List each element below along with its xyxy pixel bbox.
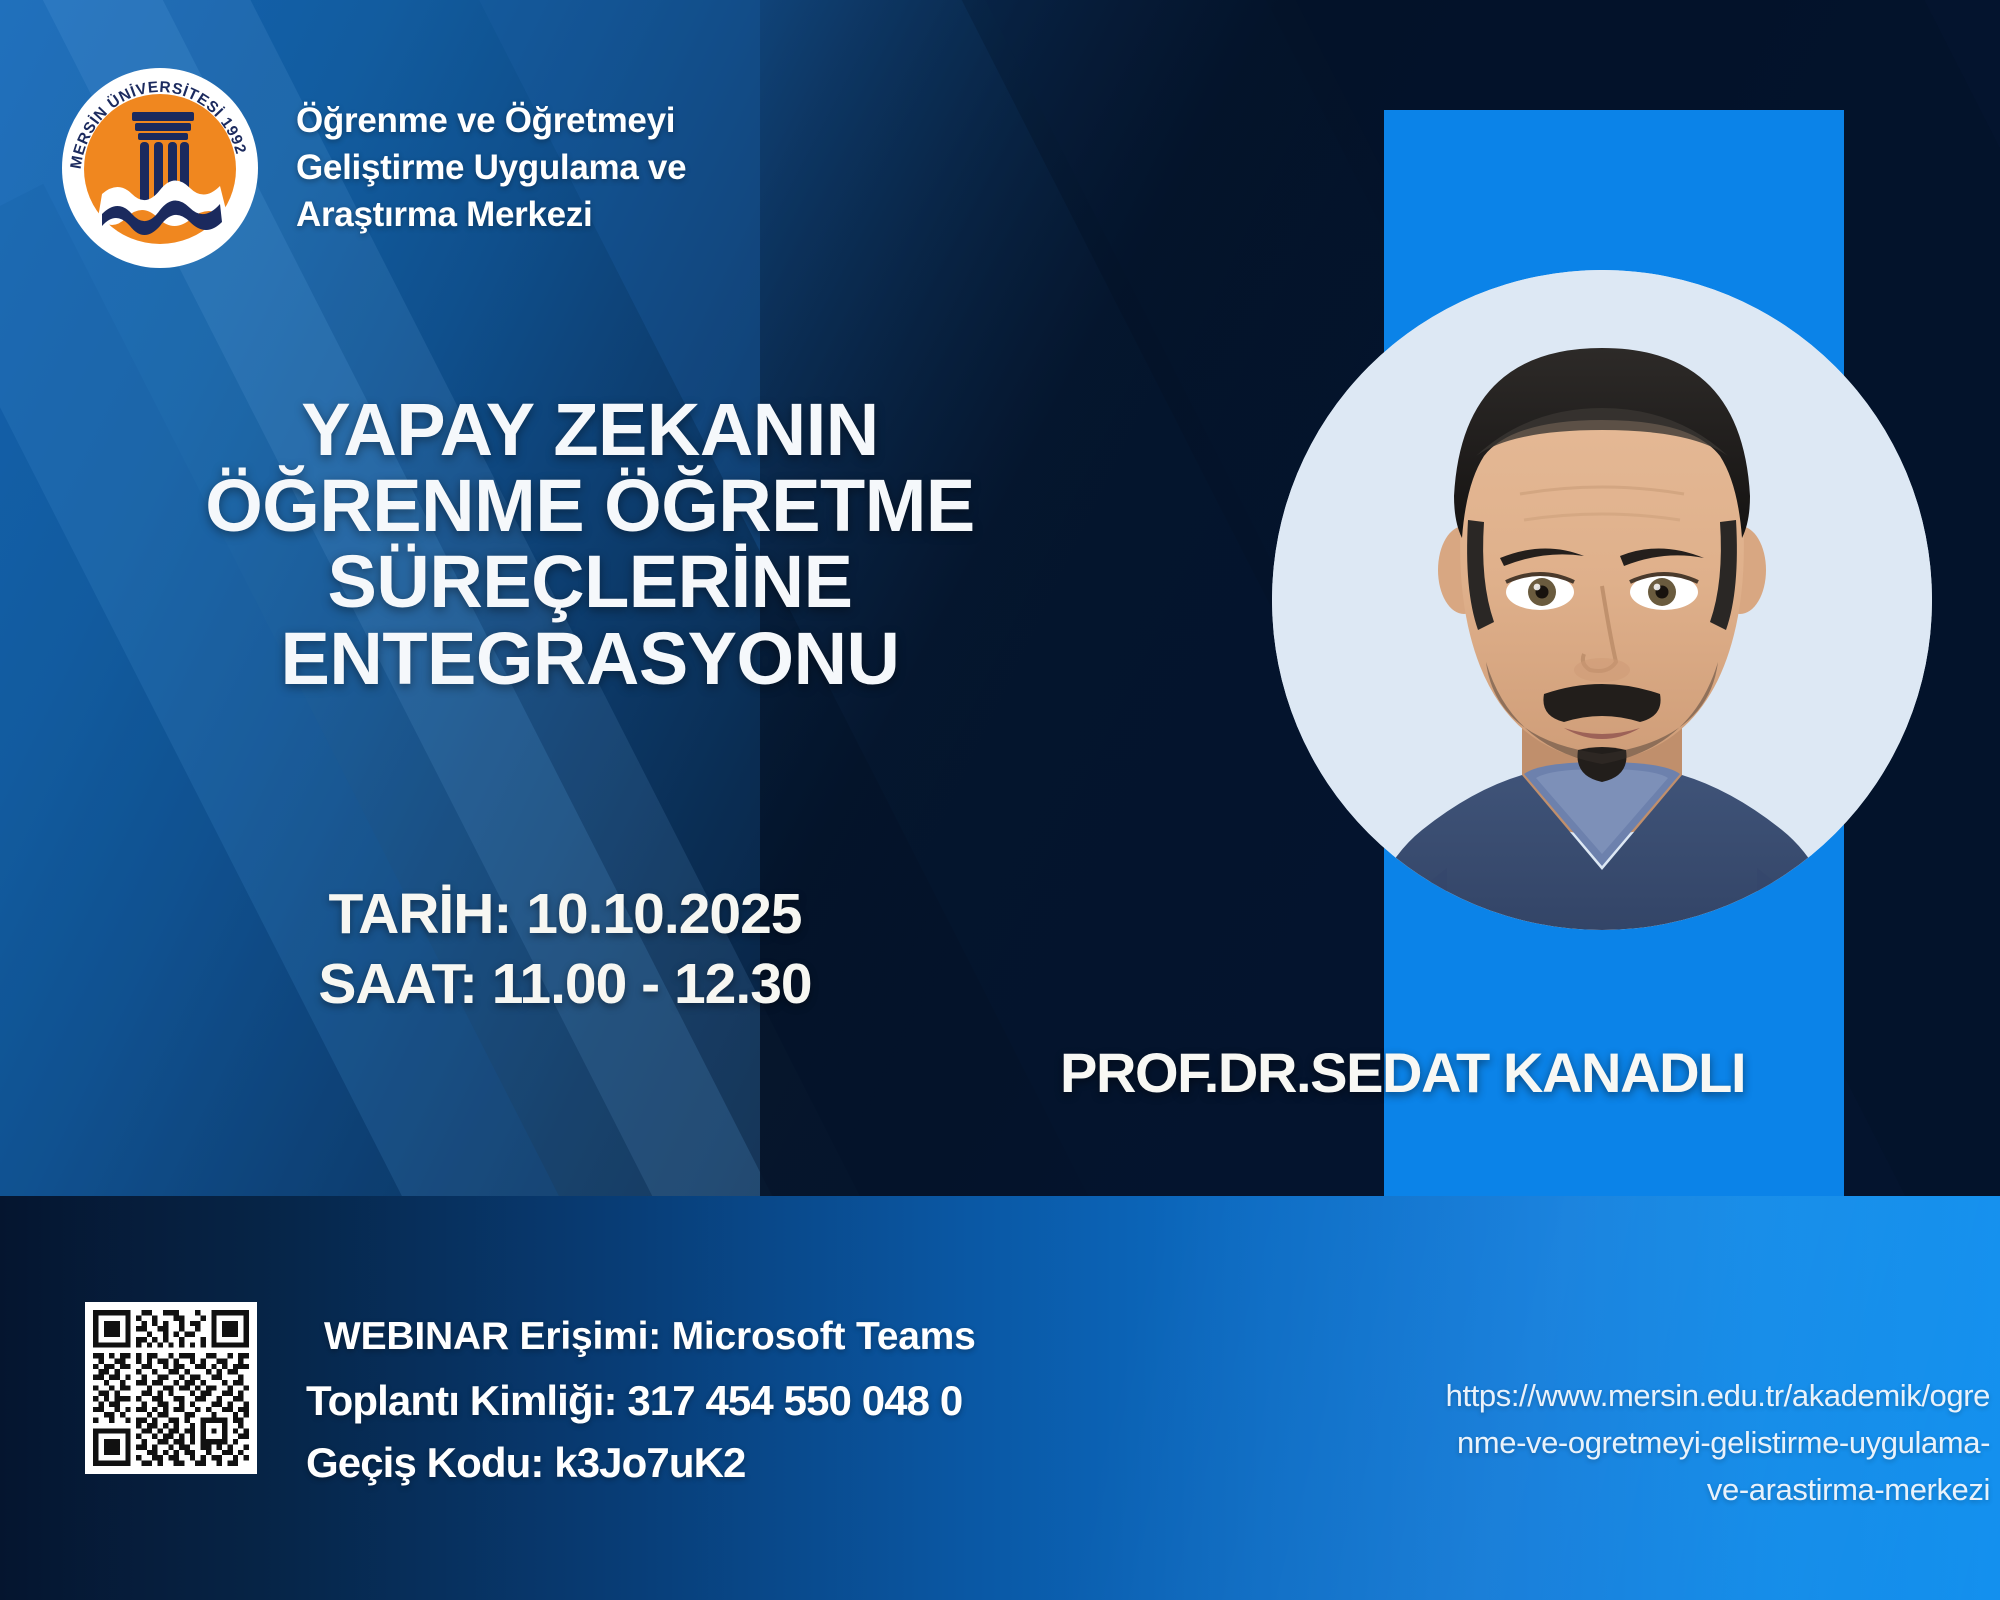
- event-time: SAAT: 11.00 - 12.30: [60, 950, 1070, 1020]
- headline-line-2: ÖĞRENME ÖĞRETME: [60, 468, 1120, 544]
- event-schedule: TARİH: 10.10.2025 SAAT: 11.00 - 12.30: [60, 880, 1070, 1019]
- url-line-2: nme-ve-ogretmeyi-gelistirme-uygulama-: [1250, 1419, 1990, 1466]
- webinar-platform: WEBINAR Erişimi: Microsoft Teams: [306, 1315, 1126, 1359]
- url-line-3: ve-arastirma-merkezi: [1250, 1466, 1990, 1513]
- webinar-passcode: Geçiş Kodu: k3Jo7uK2: [306, 1439, 1126, 1487]
- speaker-portrait-illustration: [1272, 270, 1932, 930]
- organization-name: Öğrenme ve Öğretmeyi Geliştirme Uygulama…: [296, 98, 996, 239]
- organization-name-line-3: Araştırma Merkezi: [296, 192, 996, 239]
- url-line-1: https://www.mersin.edu.tr/akademik/ogre: [1250, 1372, 1990, 1419]
- webinar-meeting-id: Toplantı Kimliği: 317 454 550 048 0: [306, 1377, 1126, 1425]
- organization-name-line-1: Öğrenme ve Öğretmeyi: [296, 98, 996, 145]
- speaker-name: PROF.DR.SEDAT KANADLI: [1060, 1040, 2000, 1105]
- logo-column-and-wave-icon: MERSİN ÜNİVERSİTESİ 1992: [62, 68, 258, 268]
- qr-code-matrix: [93, 1310, 249, 1466]
- speaker-photo-circle: [1272, 270, 1932, 930]
- organization-name-line-2: Geliştirme Uygulama ve: [296, 145, 996, 192]
- center-website-url[interactable]: https://www.mersin.edu.tr/akademik/ogre …: [1250, 1372, 1990, 1513]
- event-date: TARİH: 10.10.2025: [60, 880, 1070, 950]
- mersin-university-logo: MERSİN ÜNİVERSİTESİ 1992: [62, 68, 258, 268]
- headline-line-1: YAPAY ZEKANIN: [60, 392, 1120, 468]
- webinar-poster: MERSİN ÜNİVERSİTESİ 1992 Öğrenme ve Öğre…: [0, 0, 2000, 1600]
- headline-line-4: ENTEGRASYONU: [60, 621, 1120, 697]
- qr-code[interactable]: [85, 1302, 257, 1474]
- headline-line-3: SÜREÇLERİNE: [60, 544, 1120, 620]
- page-title: YAPAY ZEKANIN ÖĞRENME ÖĞRETME SÜREÇLERİN…: [60, 392, 1120, 697]
- webinar-access-info: WEBINAR Erişimi: Microsoft Teams Toplant…: [306, 1315, 1126, 1501]
